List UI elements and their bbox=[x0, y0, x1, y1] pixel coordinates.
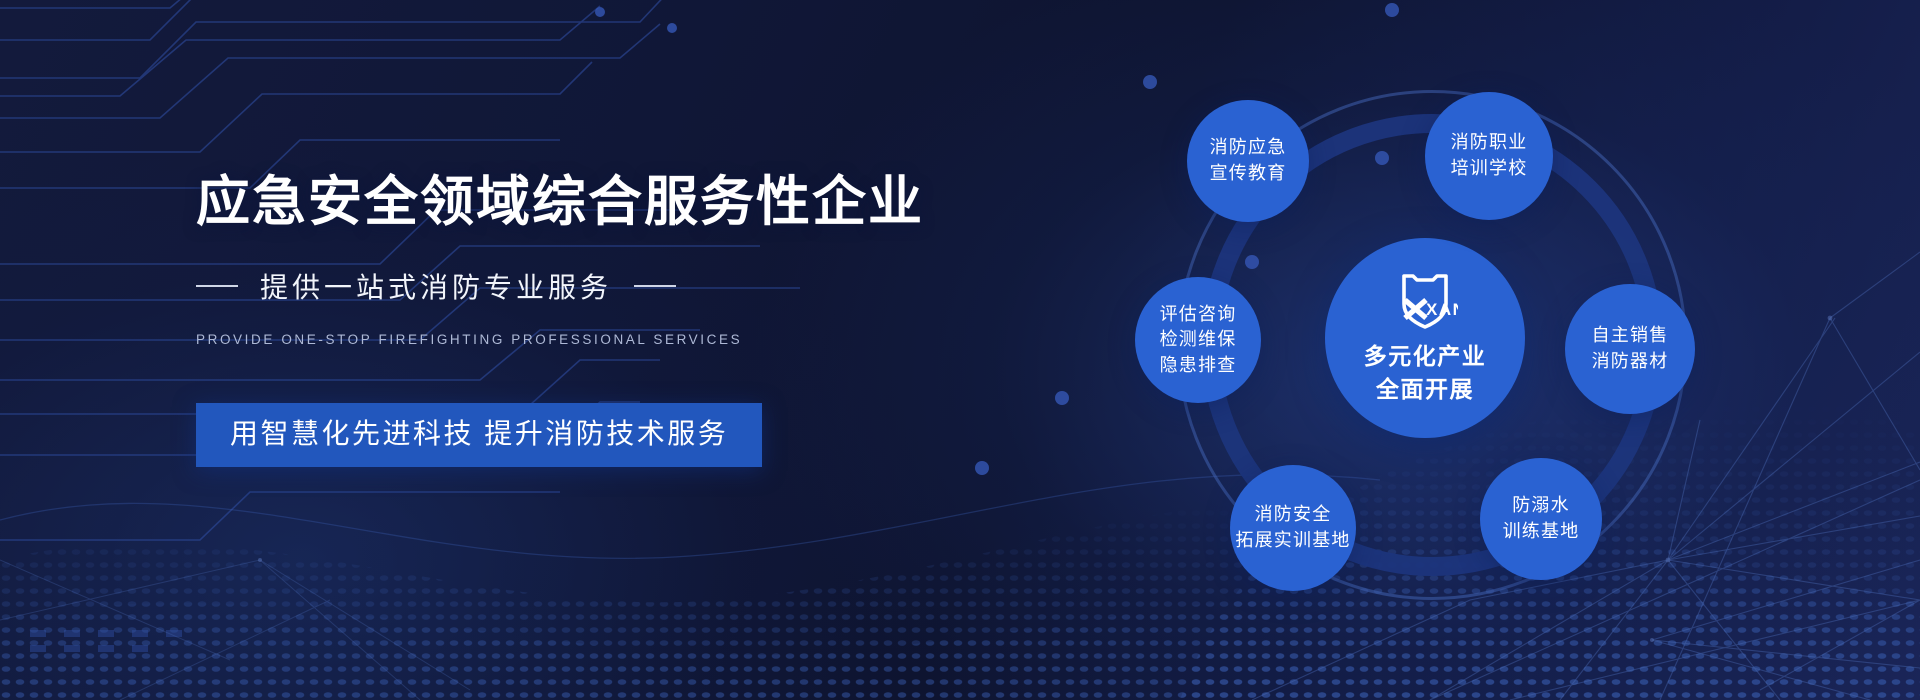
dash-right-icon bbox=[634, 285, 676, 287]
hero-subtitle: 提供一站式消防专业服务 bbox=[260, 266, 612, 306]
node-line-1: 防溺水 bbox=[1512, 493, 1570, 519]
hero-english-subtitle: PROVIDE ONE-STOP FIREFIGHTING PROFESSION… bbox=[196, 332, 1026, 347]
node-line-2: 培训学校 bbox=[1451, 156, 1528, 182]
node-line-1: 消防应急 bbox=[1210, 135, 1287, 161]
diagram-node-anti-drowning-base[interactable]: 防溺水 训练基地 bbox=[1480, 458, 1602, 580]
node-line-2: 消防器材 bbox=[1592, 349, 1669, 375]
page-title: 应急安全领域综合服务性企业 bbox=[196, 172, 1026, 232]
node-line-1: 消防安全 bbox=[1255, 502, 1332, 528]
node-line-1: 自主销售 bbox=[1592, 323, 1669, 349]
service-ecosystem-diagram: XAN 多元化产业 全面开展 消防应急 宣传教育 消防职业 培训学校 评估咨询 … bbox=[1135, 60, 1755, 640]
diagram-center-node[interactable]: XAN 多元化产业 全面开展 bbox=[1325, 238, 1525, 438]
svg-text:XAN: XAN bbox=[1426, 300, 1458, 319]
diagram-node-safety-training-base[interactable]: 消防安全 拓展实训基地 bbox=[1230, 465, 1356, 591]
cta-button[interactable]: 用智慧化先进科技 提升消防技术服务 bbox=[196, 403, 762, 467]
diagram-node-fire-emergency-education[interactable]: 消防应急 宣传教育 bbox=[1187, 100, 1309, 222]
center-node-line-2: 全面开展 bbox=[1376, 373, 1474, 406]
center-node-line-1: 多元化产业 bbox=[1364, 340, 1487, 373]
node-line-3: 隐患排查 bbox=[1160, 353, 1237, 379]
node-line-2: 训练基地 bbox=[1503, 519, 1580, 545]
diagram-node-fire-vocational-school[interactable]: 消防职业 培训学校 bbox=[1425, 92, 1553, 220]
diagram-node-equipment-sales[interactable]: 自主销售 消防器材 bbox=[1565, 284, 1695, 414]
diagram-node-assessment-inspection[interactable]: 评估咨询 检测维保 隐患排查 bbox=[1135, 277, 1261, 403]
subtitle-row: 提供一站式消防专业服务 bbox=[196, 266, 1026, 306]
node-line-2: 拓展实训基地 bbox=[1235, 528, 1350, 554]
hero-text-block: 应急安全领域综合服务性企业 提供一站式消防专业服务 PROVIDE ONE-ST… bbox=[196, 172, 1026, 467]
node-line-2: 检测维保 bbox=[1160, 327, 1237, 353]
shield-icon: XAN bbox=[1392, 270, 1458, 332]
node-line-2: 宣传教育 bbox=[1210, 161, 1287, 187]
hero-banner: 应急安全领域综合服务性企业 提供一站式消防专业服务 PROVIDE ONE-ST… bbox=[0, 0, 1920, 700]
dash-left-icon bbox=[196, 285, 238, 287]
node-line-1: 消防职业 bbox=[1451, 130, 1528, 156]
node-line-1: 评估咨询 bbox=[1160, 302, 1237, 328]
